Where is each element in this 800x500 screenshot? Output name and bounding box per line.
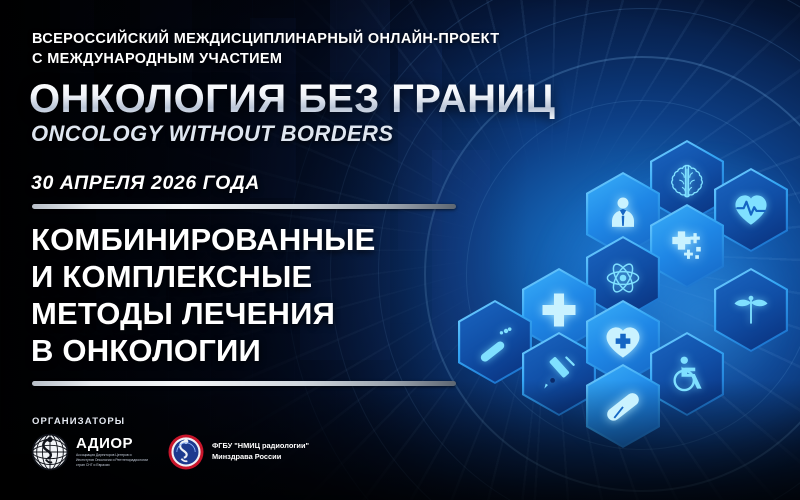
event-banner: ВСЕРОССИЙСКИЙ МЕЖДИСЦИПЛИНАРНЫЙ ОНЛАЙН-П… xyxy=(0,0,800,500)
adior-descriptor: Ассоциация Директоров Центров и Институт… xyxy=(76,453,150,468)
organizer-adior: АДИОР Ассоциация Директоров Центров и Ин… xyxy=(30,432,150,472)
wheelchair-icon xyxy=(665,352,709,396)
heart-cross-icon xyxy=(601,320,645,364)
event-title-en: ONCOLOGY WITHOUT BORDERS xyxy=(31,121,393,147)
adior-wordmark: АДИОР Ассоциация Директоров Центров и Ин… xyxy=(76,436,150,468)
crosses-pixel-icon xyxy=(665,224,709,268)
headline-line-4: В ОНКОЛОГИИ xyxy=(31,333,501,370)
adior-globe-serpent-icon xyxy=(30,432,70,472)
nmic-wordmark: ФГБУ "НМИЦ радиологии" Минздрава России xyxy=(212,441,309,462)
nmic-line-1: ФГБУ "НМИЦ радиологии" xyxy=(212,441,309,452)
event-headline: КОМБИНИРОВАННЫЕ И КОМПЛЕКСНЫЕ МЕТОДЫ ЛЕЧ… xyxy=(31,222,501,370)
heartbeat-icon xyxy=(729,188,773,232)
event-date: 30 АПРЕЛЯ 2026 ГОДА xyxy=(31,172,260,195)
nmic-line-2: Минздрава России xyxy=(212,452,309,463)
divider-top xyxy=(32,204,456,209)
atom-icon xyxy=(601,256,645,300)
thermometer-icon xyxy=(473,320,517,364)
headline-line-1: КОМБИНИРОВАННЫЕ xyxy=(31,222,501,259)
doctor-person-icon xyxy=(601,192,645,236)
organizer-nmic: ФГБУ "НМИЦ радиологии" Минздрава России xyxy=(166,432,309,472)
adior-name: АДИОР xyxy=(76,436,150,451)
brain-icon xyxy=(665,160,709,204)
nmic-radiology-serpent-icon xyxy=(166,432,206,472)
event-kicker: ВСЕРОССИЙСКИЙ МЕЖДИСЦИПЛИНАРНЫЙ ОНЛАЙН-П… xyxy=(32,30,672,69)
kicker-line-1: ВСЕРОССИЙСКИЙ МЕЖДИСЦИПЛИНАРНЫЙ ОНЛАЙН-П… xyxy=(32,30,672,50)
headline-line-3: МЕТОДЫ ЛЕЧЕНИЯ xyxy=(31,296,501,333)
divider-bottom xyxy=(32,381,456,386)
caduceus-icon xyxy=(729,288,773,332)
headline-line-2: И КОМПЛЕКСНЫЕ xyxy=(31,259,501,296)
organizers-label: ОРГАНИЗАТОРЫ xyxy=(32,416,125,427)
organizers-list: АДИОР Ассоциация Директоров Центров и Ин… xyxy=(30,432,309,472)
pill-capsule-icon xyxy=(601,384,645,428)
medical-cross-icon xyxy=(537,288,581,332)
syringe-icon xyxy=(537,352,581,396)
kicker-line-2: С МЕЖДУНАРОДНЫМ УЧАСТИЕМ xyxy=(32,50,672,70)
event-title-ru: ОНКОЛОГИЯ БЕЗ ГРАНИЦ xyxy=(29,79,555,119)
